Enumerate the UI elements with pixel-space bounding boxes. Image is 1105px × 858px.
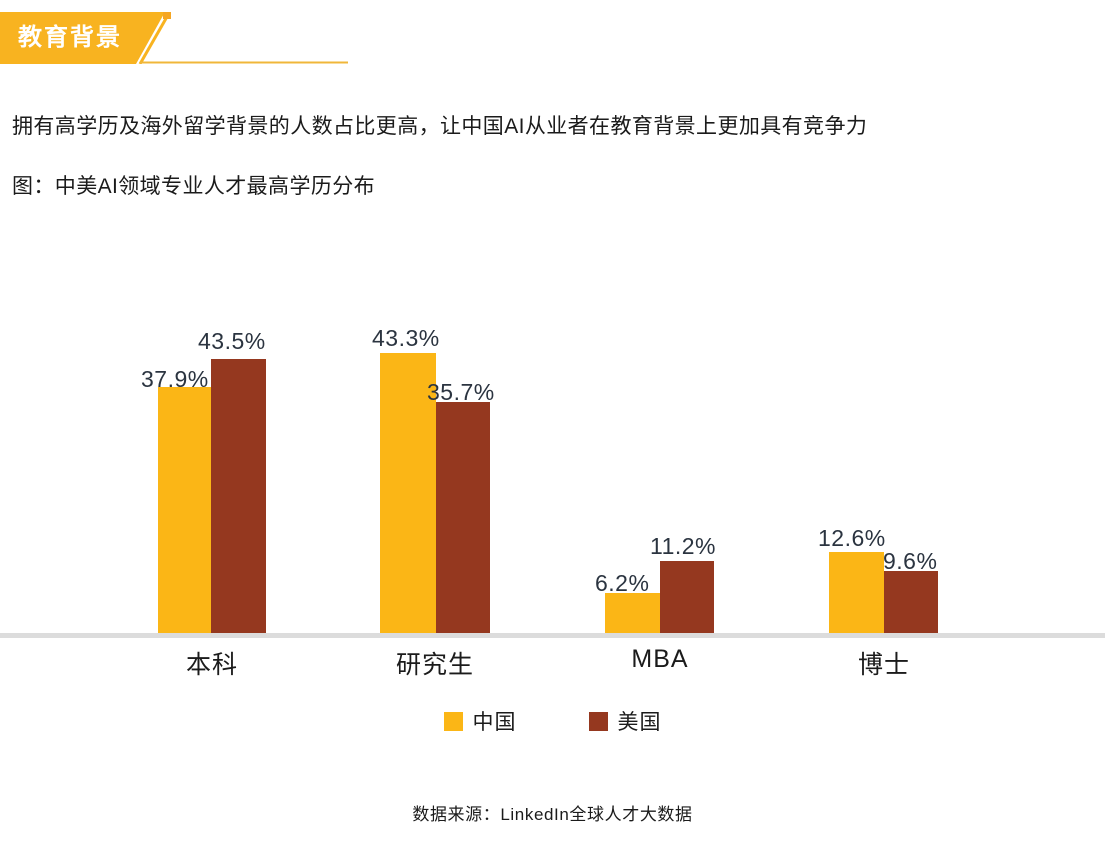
category-label-0: 本科 <box>132 645 292 681</box>
bar-label-us-0: 43.5% <box>198 328 266 355</box>
category-label-3: 博士 <box>804 645 964 681</box>
bar-cn-2 <box>605 593 660 633</box>
legend-swatch-icon-cn <box>444 712 463 731</box>
bar-label-cn-1: 43.3% <box>372 325 440 352</box>
bar-label-us-1: 35.7% <box>427 379 495 406</box>
legend-label-us: 美国 <box>618 706 662 736</box>
bar-label-cn-3: 12.6% <box>818 525 886 552</box>
bar-cn-0 <box>158 387 211 633</box>
bar-cn-3 <box>829 552 884 633</box>
chart-legend: 中国 美国 <box>0 706 1105 736</box>
source-note: 数据来源：LinkedIn全球人才大数据 <box>0 800 1105 825</box>
bar-label-us-3: 9.6% <box>883 548 937 575</box>
legend-item-cn: 中国 <box>444 706 517 736</box>
legend-item-us: 美国 <box>589 706 662 736</box>
bar-us-0 <box>211 359 266 633</box>
bar-label-us-2: 11.2% <box>650 533 716 560</box>
bar-us-2 <box>660 561 714 633</box>
category-label-1: 研究生 <box>355 645 515 681</box>
bar-label-cn-2: 6.2% <box>595 570 649 597</box>
legend-swatch-icon-us <box>589 712 608 731</box>
bar-us-3 <box>884 571 938 633</box>
x-axis-line <box>0 633 1105 638</box>
legend-label-cn: 中国 <box>473 706 517 736</box>
category-label-2: MBA <box>580 645 740 674</box>
bar-us-1 <box>436 402 490 633</box>
bar-label-cn-0: 37.9% <box>141 366 209 393</box>
